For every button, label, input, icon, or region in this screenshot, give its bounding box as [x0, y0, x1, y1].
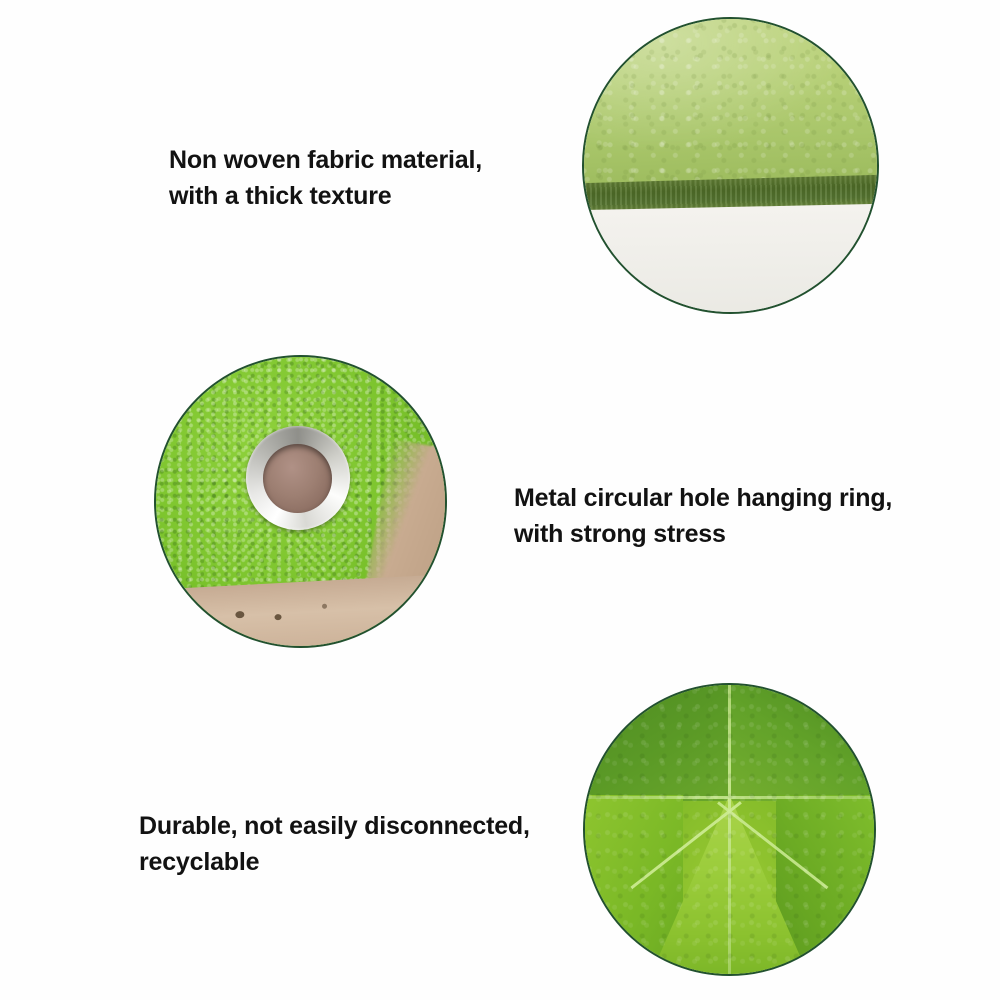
- caption-fabric-line-2: with a thick texture: [169, 178, 482, 214]
- photo-circle-ring: [154, 355, 447, 648]
- fabric-panel-top-left: [585, 685, 730, 801]
- caption-fabric: Non woven fabric material, with a thick …: [169, 142, 482, 214]
- pebble: [322, 604, 327, 609]
- felt-top-surface: [582, 17, 879, 183]
- photo-circle-fabric: [582, 17, 879, 314]
- caption-ring: Metal circular hole hanging ring, with s…: [514, 480, 892, 552]
- grommet-hole: [263, 444, 332, 513]
- caption-fabric-line-1: Non woven fabric material,: [169, 142, 482, 178]
- pebble: [235, 611, 244, 618]
- caption-ring-line-2: with strong stress: [514, 516, 892, 552]
- felt-underside: [582, 203, 879, 314]
- fabric-panel-top-right: [730, 685, 875, 801]
- caption-durable: Durable, not easily disconnected, recycl…: [139, 808, 530, 880]
- photo-circle-seam: [583, 683, 876, 976]
- caption-durable-line-1: Durable, not easily disconnected,: [139, 808, 530, 844]
- seam-line-vertical: [728, 685, 731, 974]
- caption-ring-line-1: Metal circular hole hanging ring,: [514, 480, 892, 516]
- pebble: [274, 615, 281, 621]
- metal-grommet-ring: [246, 426, 350, 530]
- caption-durable-line-2: recyclable: [139, 844, 530, 880]
- infographic-page: Non woven fabric material, with a thick …: [0, 0, 1000, 1000]
